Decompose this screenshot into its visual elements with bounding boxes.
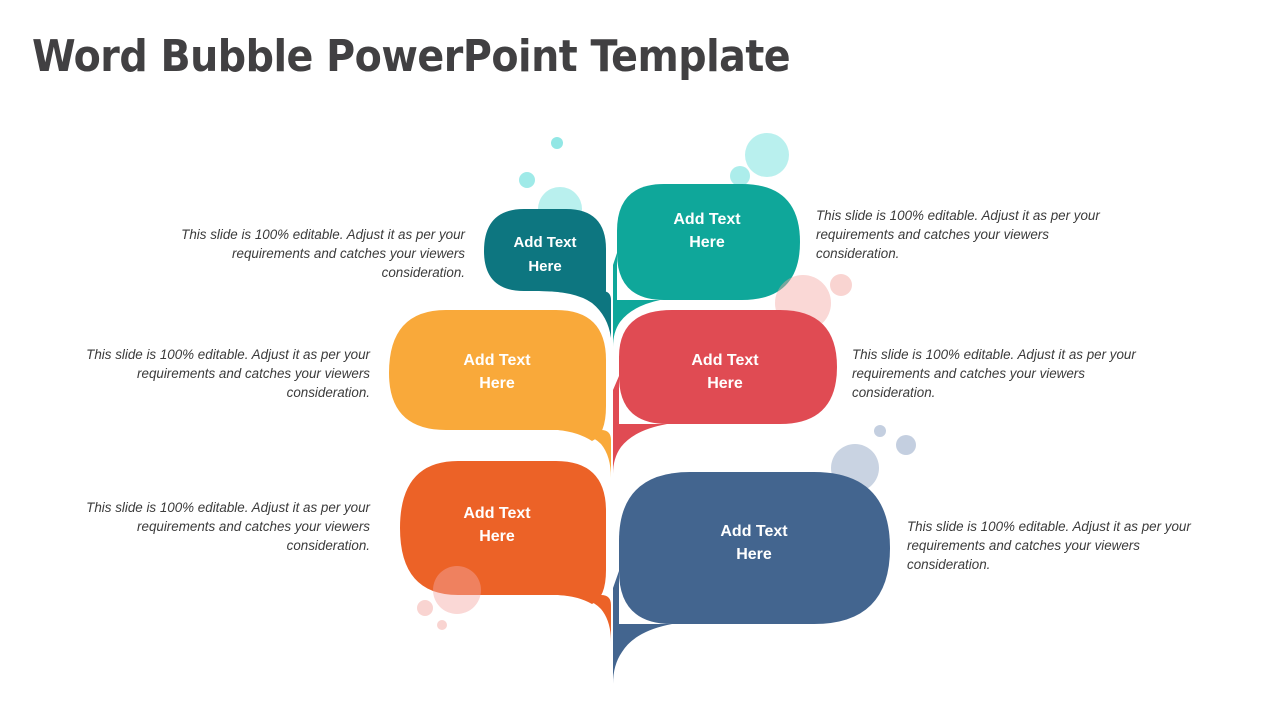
description-text-5: This slide is 100% editable. Adjust it a… xyxy=(907,517,1191,574)
decor-circle-cyan-small-3 xyxy=(730,166,750,186)
decor-circle-pink-5 xyxy=(437,620,447,630)
bubble-red[interactable]: Add Text Here xyxy=(619,310,837,424)
bubble-teal[interactable]: Add Text Here xyxy=(617,184,800,300)
bubble-amber-label-line2: Here xyxy=(479,375,515,392)
bubble-teal-label-line1: Add Text xyxy=(673,211,741,228)
description-text-1: This slide is 100% editable. Adjust it a… xyxy=(816,206,1100,263)
decor-circle-pink-3 xyxy=(433,566,481,614)
decor-circle-pink-4 xyxy=(417,600,433,616)
decor-circle-steel-2 xyxy=(874,425,886,437)
bubble-teal-dark-label-line1: Add Text xyxy=(513,234,576,251)
bubble-orange-label-line2: Here xyxy=(479,528,515,545)
description-text-2: This slide is 100% editable. Adjust it a… xyxy=(86,345,370,402)
bubble-orange-label-line1: Add Text xyxy=(463,505,531,522)
bubble-red-label-line1: Add Text xyxy=(691,352,759,369)
bubble-orange-tail xyxy=(558,595,611,642)
bubble-amber[interactable]: Add Text Here xyxy=(389,310,606,441)
bubble-amber-label-line1: Add Text xyxy=(463,352,531,369)
bubble-blue-label-line1: Add Text xyxy=(720,523,788,540)
description-text-3: This slide is 100% editable. Adjust it a… xyxy=(852,345,1136,402)
decor-circle-cyan-large-2 xyxy=(745,133,789,177)
description-text-0: This slide is 100% editable. Adjust it a… xyxy=(181,225,465,282)
description-text-4: This slide is 100% editable. Adjust it a… xyxy=(86,498,370,555)
slide-canvas: Word Bubble PowerPoint Template Add Text… xyxy=(0,0,1280,720)
decor-circle-pink-2 xyxy=(830,274,852,296)
bubble-red-label-line2: Here xyxy=(707,375,743,392)
bubble-blue-label-line2: Here xyxy=(736,546,772,563)
decor-circle-cyan-small-2 xyxy=(519,172,535,188)
bubble-teal-label-line2: Here xyxy=(689,234,725,251)
decor-circle-cyan-small-1 xyxy=(551,137,563,149)
bubble-blue[interactable]: Add Text Here xyxy=(619,472,890,624)
decor-circle-steel-3 xyxy=(896,435,916,455)
bubble-orange[interactable]: Add Text Here xyxy=(400,461,606,604)
bubble-teal-dark-label-line2: Here xyxy=(528,258,561,275)
